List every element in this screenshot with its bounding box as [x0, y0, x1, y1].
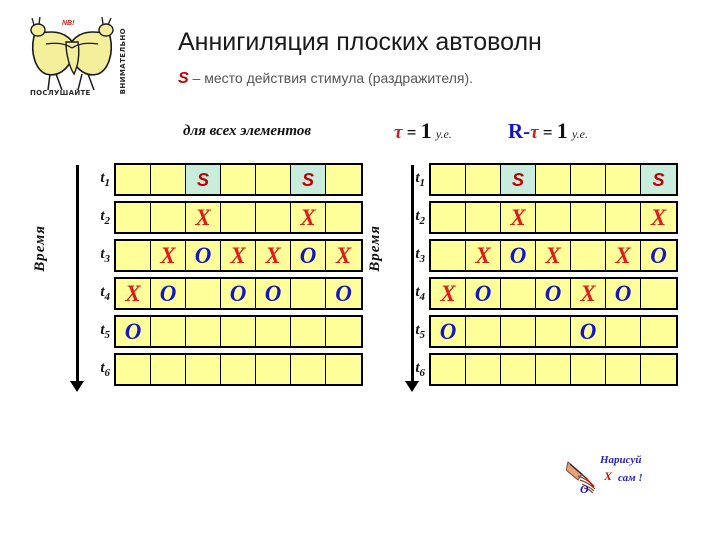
- grid-cell-r5-c4[interactable]: [221, 317, 256, 346]
- grid-cell-r6-c7[interactable]: [326, 355, 361, 384]
- row-label: t5: [400, 322, 429, 341]
- row-label-index: 1: [420, 177, 426, 189]
- grid-cell-r4-c2[interactable]: O: [466, 279, 501, 308]
- grid-cell-r2-c6[interactable]: [606, 203, 641, 232]
- grid-cells: [429, 353, 678, 386]
- grid-cell-r5-c2[interactable]: [151, 317, 186, 346]
- annotation-r-minus-tau: R-τ = 1 у.е.: [508, 118, 588, 144]
- grid-cell-r1-c4[interactable]: [221, 165, 256, 194]
- row-label-index: 4: [105, 291, 111, 303]
- grid-cell-r3-c2[interactable]: X: [151, 241, 186, 270]
- grid-cells: XOOXO: [429, 277, 678, 310]
- row-label-index: 5: [105, 329, 111, 341]
- grid-cells: SS: [114, 163, 363, 196]
- logo-badge: NB!: [62, 20, 74, 27]
- page-subtitle: S – место действия стимула (раздражителя…: [178, 70, 473, 88]
- grid-cell-r5-c2[interactable]: [466, 317, 501, 346]
- grid-cell-r5-c1[interactable]: O: [116, 317, 151, 346]
- grid-row-t5: t5O: [85, 315, 363, 348]
- grid-cell-r6-c7[interactable]: [641, 355, 676, 384]
- grid-cell-r1-c3[interactable]: S: [501, 165, 536, 194]
- row-label: t1: [400, 170, 429, 189]
- grid-cell-r3-c7[interactable]: O: [641, 241, 676, 270]
- annotation-tau-equals-one: τ = 1 у.е.: [394, 118, 452, 144]
- grid-row-t4: t4XOOOO: [85, 277, 363, 310]
- row-label: t5: [85, 322, 114, 341]
- grid-cell-r6-c6[interactable]: [291, 355, 326, 384]
- rtau-unit: у.е.: [572, 127, 588, 141]
- grid-cell-r4-c4[interactable]: O: [221, 279, 256, 308]
- grid-cell-r6-c2[interactable]: [466, 355, 501, 384]
- grid-cell-r1-c2[interactable]: [151, 165, 186, 194]
- grid-cell-r4-c1[interactable]: X: [431, 279, 466, 308]
- row-label-index: 5: [420, 329, 426, 341]
- grid-cell-r3-c1[interactable]: [431, 241, 466, 270]
- grid-cells: XOXXOX: [114, 239, 363, 272]
- grid-cell-r6-c5[interactable]: [256, 355, 291, 384]
- grid-cell-r2-c7[interactable]: [326, 203, 361, 232]
- grid-cell-r6-c5[interactable]: [571, 355, 606, 384]
- row-label: t2: [85, 208, 114, 227]
- logo-side-caption: ВНИМАТЕЛЬНО: [119, 28, 127, 94]
- doodle-line-1: Нарисуй: [600, 454, 641, 466]
- grid-row-t2: t2XX: [85, 201, 363, 234]
- grid-cell-r3-c4[interactable]: X: [221, 241, 256, 270]
- grid-cell-r5-c1[interactable]: O: [431, 317, 466, 346]
- grid-row-t1: t1SS: [400, 163, 678, 196]
- grid-cell-r4-c1[interactable]: X: [116, 279, 151, 308]
- grid-cells: XOXXO: [429, 239, 678, 272]
- grid-cell-r3-c3[interactable]: O: [186, 241, 221, 270]
- grid-cell-r6-c3[interactable]: [186, 355, 221, 384]
- grid-cell-r2-c5[interactable]: [256, 203, 291, 232]
- grid-cell-r4-c6[interactable]: [291, 279, 326, 308]
- grid-cell-r4-c3[interactable]: [501, 279, 536, 308]
- grid-cell-r3-c2[interactable]: X: [466, 241, 501, 270]
- row-label-index: 4: [420, 291, 426, 303]
- row-label: t6: [85, 360, 114, 379]
- subtitle-text: – место действия стимула (раздражителя).: [189, 70, 473, 86]
- presentation-logo: NB! ПОСЛУШАЙТЕ ВНИМАТЕЛЬНО: [16, 8, 128, 100]
- grid-cell-r1-c5[interactable]: [571, 165, 606, 194]
- grid-cell-r5-c5[interactable]: O: [571, 317, 606, 346]
- logo-caption: ПОСЛУШАЙТЕ: [30, 89, 91, 97]
- row-label: t2: [400, 208, 429, 227]
- grid-row-t6: t6: [400, 353, 678, 386]
- grid-cells: XX: [429, 201, 678, 234]
- grid-cell-r6-c4[interactable]: [536, 355, 571, 384]
- row-label: t3: [400, 246, 429, 265]
- grid-cells: XOOOO: [114, 277, 363, 310]
- grid-cell-r3-c6[interactable]: X: [606, 241, 641, 270]
- grid-cell-r6-c1[interactable]: [431, 355, 466, 384]
- grid-cell-r2-c4[interactable]: [221, 203, 256, 232]
- grid-cell-r2-c6[interactable]: X: [291, 203, 326, 232]
- grid-cell-r5-c5[interactable]: [256, 317, 291, 346]
- tau-value: 1: [421, 118, 432, 143]
- grid-row-t3: t3XOXXOX: [85, 239, 363, 272]
- grid-cell-r2-c1[interactable]: [431, 203, 466, 232]
- grid-row-t6: t6: [85, 353, 363, 386]
- time-axis-label: Время: [32, 225, 49, 272]
- grid-cell-r4-c2[interactable]: O: [151, 279, 186, 308]
- grid-cell-r4-c7[interactable]: [641, 279, 676, 308]
- row-label: t4: [85, 284, 114, 303]
- grid-cell-r4-c7[interactable]: O: [326, 279, 361, 308]
- grid-cell-r3-c5[interactable]: [571, 241, 606, 270]
- grid-cell-r3-c5[interactable]: X: [256, 241, 291, 270]
- grid-cell-r1-c1[interactable]: [431, 165, 466, 194]
- row-label: t3: [85, 246, 114, 265]
- annotation-all-elements: для всех элементов: [183, 123, 311, 140]
- grid-cell-r3-c1[interactable]: [116, 241, 151, 270]
- row-label-index: 2: [420, 215, 426, 227]
- row-label-index: 6: [420, 367, 426, 379]
- grid-cell-r5-c6[interactable]: [291, 317, 326, 346]
- row-label-index: 3: [420, 253, 426, 265]
- page-title: Аннигиляция плоских автоволн: [178, 28, 542, 57]
- grid-cell-r1-c2[interactable]: [466, 165, 501, 194]
- grid-cell-r2-c4[interactable]: [536, 203, 571, 232]
- grid-cell-r1-c7[interactable]: S: [641, 165, 676, 194]
- grid-cell-r1-c6[interactable]: S: [291, 165, 326, 194]
- grid-cells: O: [114, 315, 363, 348]
- grid-cell-r4-c4[interactable]: O: [536, 279, 571, 308]
- grid-cell-r6-c1[interactable]: [116, 355, 151, 384]
- grid-cell-r2-c1[interactable]: [116, 203, 151, 232]
- grid-cell-r5-c4[interactable]: [536, 317, 571, 346]
- row-label: t1: [85, 170, 114, 189]
- grid-cell-r4-c3[interactable]: [186, 279, 221, 308]
- grid-cell-r2-c2[interactable]: [151, 203, 186, 232]
- grid-cell-r3-c6[interactable]: O: [291, 241, 326, 270]
- grid-cell-r5-c3[interactable]: [186, 317, 221, 346]
- grid-cell-r4-c6[interactable]: O: [606, 279, 641, 308]
- grid-cell-r4-c5[interactable]: O: [256, 279, 291, 308]
- r-symbol: R: [508, 119, 523, 143]
- row-label-index: 3: [105, 253, 111, 265]
- grid-cell-r6-c2[interactable]: [151, 355, 186, 384]
- grid-cell-r6-c3[interactable]: [501, 355, 536, 384]
- down-arrow-icon: [70, 381, 84, 392]
- grid-cell-r5-c3[interactable]: [501, 317, 536, 346]
- grid-cell-r1-c1[interactable]: [116, 165, 151, 194]
- grid-cells: XX: [114, 201, 363, 234]
- automaton-grid-right: t1SSt2XXt3XOXXOt4XOOXOt5OOt6: [400, 163, 678, 391]
- grid-cell-r3-c4[interactable]: X: [536, 241, 571, 270]
- grid-cell-r3-c7[interactable]: X: [326, 241, 361, 270]
- row-label: t4: [400, 284, 429, 303]
- doodle-o-mark: O: [580, 482, 589, 497]
- grid-cell-r1-c4[interactable]: [536, 165, 571, 194]
- grid-cell-r6-c4[interactable]: [221, 355, 256, 384]
- row-label-index: 6: [105, 367, 111, 379]
- grid-cell-r1-c5[interactable]: [256, 165, 291, 194]
- grid-cell-r2-c2[interactable]: [466, 203, 501, 232]
- grid-cell-r1-c3[interactable]: S: [186, 165, 221, 194]
- doodle-x-mark: X: [604, 469, 612, 484]
- grid-row-t3: t3XOXXO: [400, 239, 678, 272]
- row-label-index: 2: [105, 215, 111, 227]
- rtau-value: 1: [557, 118, 568, 143]
- grid-cells: [114, 353, 363, 386]
- grid-cells: OO: [429, 315, 678, 348]
- grid-cell-r2-c5[interactable]: [571, 203, 606, 232]
- grid-cell-r2-c3[interactable]: X: [501, 203, 536, 232]
- grid-cell-r6-c6[interactable]: [606, 355, 641, 384]
- time-axis-label: Время: [367, 225, 384, 272]
- grid-row-t4: t4XOOXO: [400, 277, 678, 310]
- grid-cell-r4-c5[interactable]: X: [571, 279, 606, 308]
- row-label-index: 1: [105, 177, 111, 189]
- rtau-equals: =: [539, 123, 557, 142]
- subtitle-s-symbol: S: [178, 70, 189, 87]
- doodle-line-2: сам !: [618, 472, 643, 484]
- grid-row-t1: t1SS: [85, 163, 363, 196]
- axis-line: [76, 165, 79, 387]
- grid-cell-r2-c3[interactable]: X: [186, 203, 221, 232]
- grid-cell-r5-c7[interactable]: [326, 317, 361, 346]
- grid-cell-r1-c6[interactable]: [606, 165, 641, 194]
- grid-cells: SS: [429, 163, 678, 196]
- grid-row-t5: t5OO: [400, 315, 678, 348]
- grid-cell-r1-c7[interactable]: [326, 165, 361, 194]
- tau-equals: =: [402, 123, 420, 142]
- grid-cell-r5-c6[interactable]: [606, 317, 641, 346]
- grid-cell-r3-c3[interactable]: O: [501, 241, 536, 270]
- grid-cell-r5-c7[interactable]: [641, 317, 676, 346]
- grid-cell-r2-c7[interactable]: X: [641, 203, 676, 232]
- rtau-tau-symbol: τ: [530, 122, 538, 143]
- grid-row-t2: t2XX: [400, 201, 678, 234]
- draw-it-yourself-doodle: Нарисуй X O сам !: [566, 452, 706, 514]
- tau-unit: у.е.: [436, 127, 452, 141]
- automaton-grid-left: t1SSt2XXt3XOXXOXt4XOOOOt5Ot6: [85, 163, 363, 391]
- row-label: t6: [400, 360, 429, 379]
